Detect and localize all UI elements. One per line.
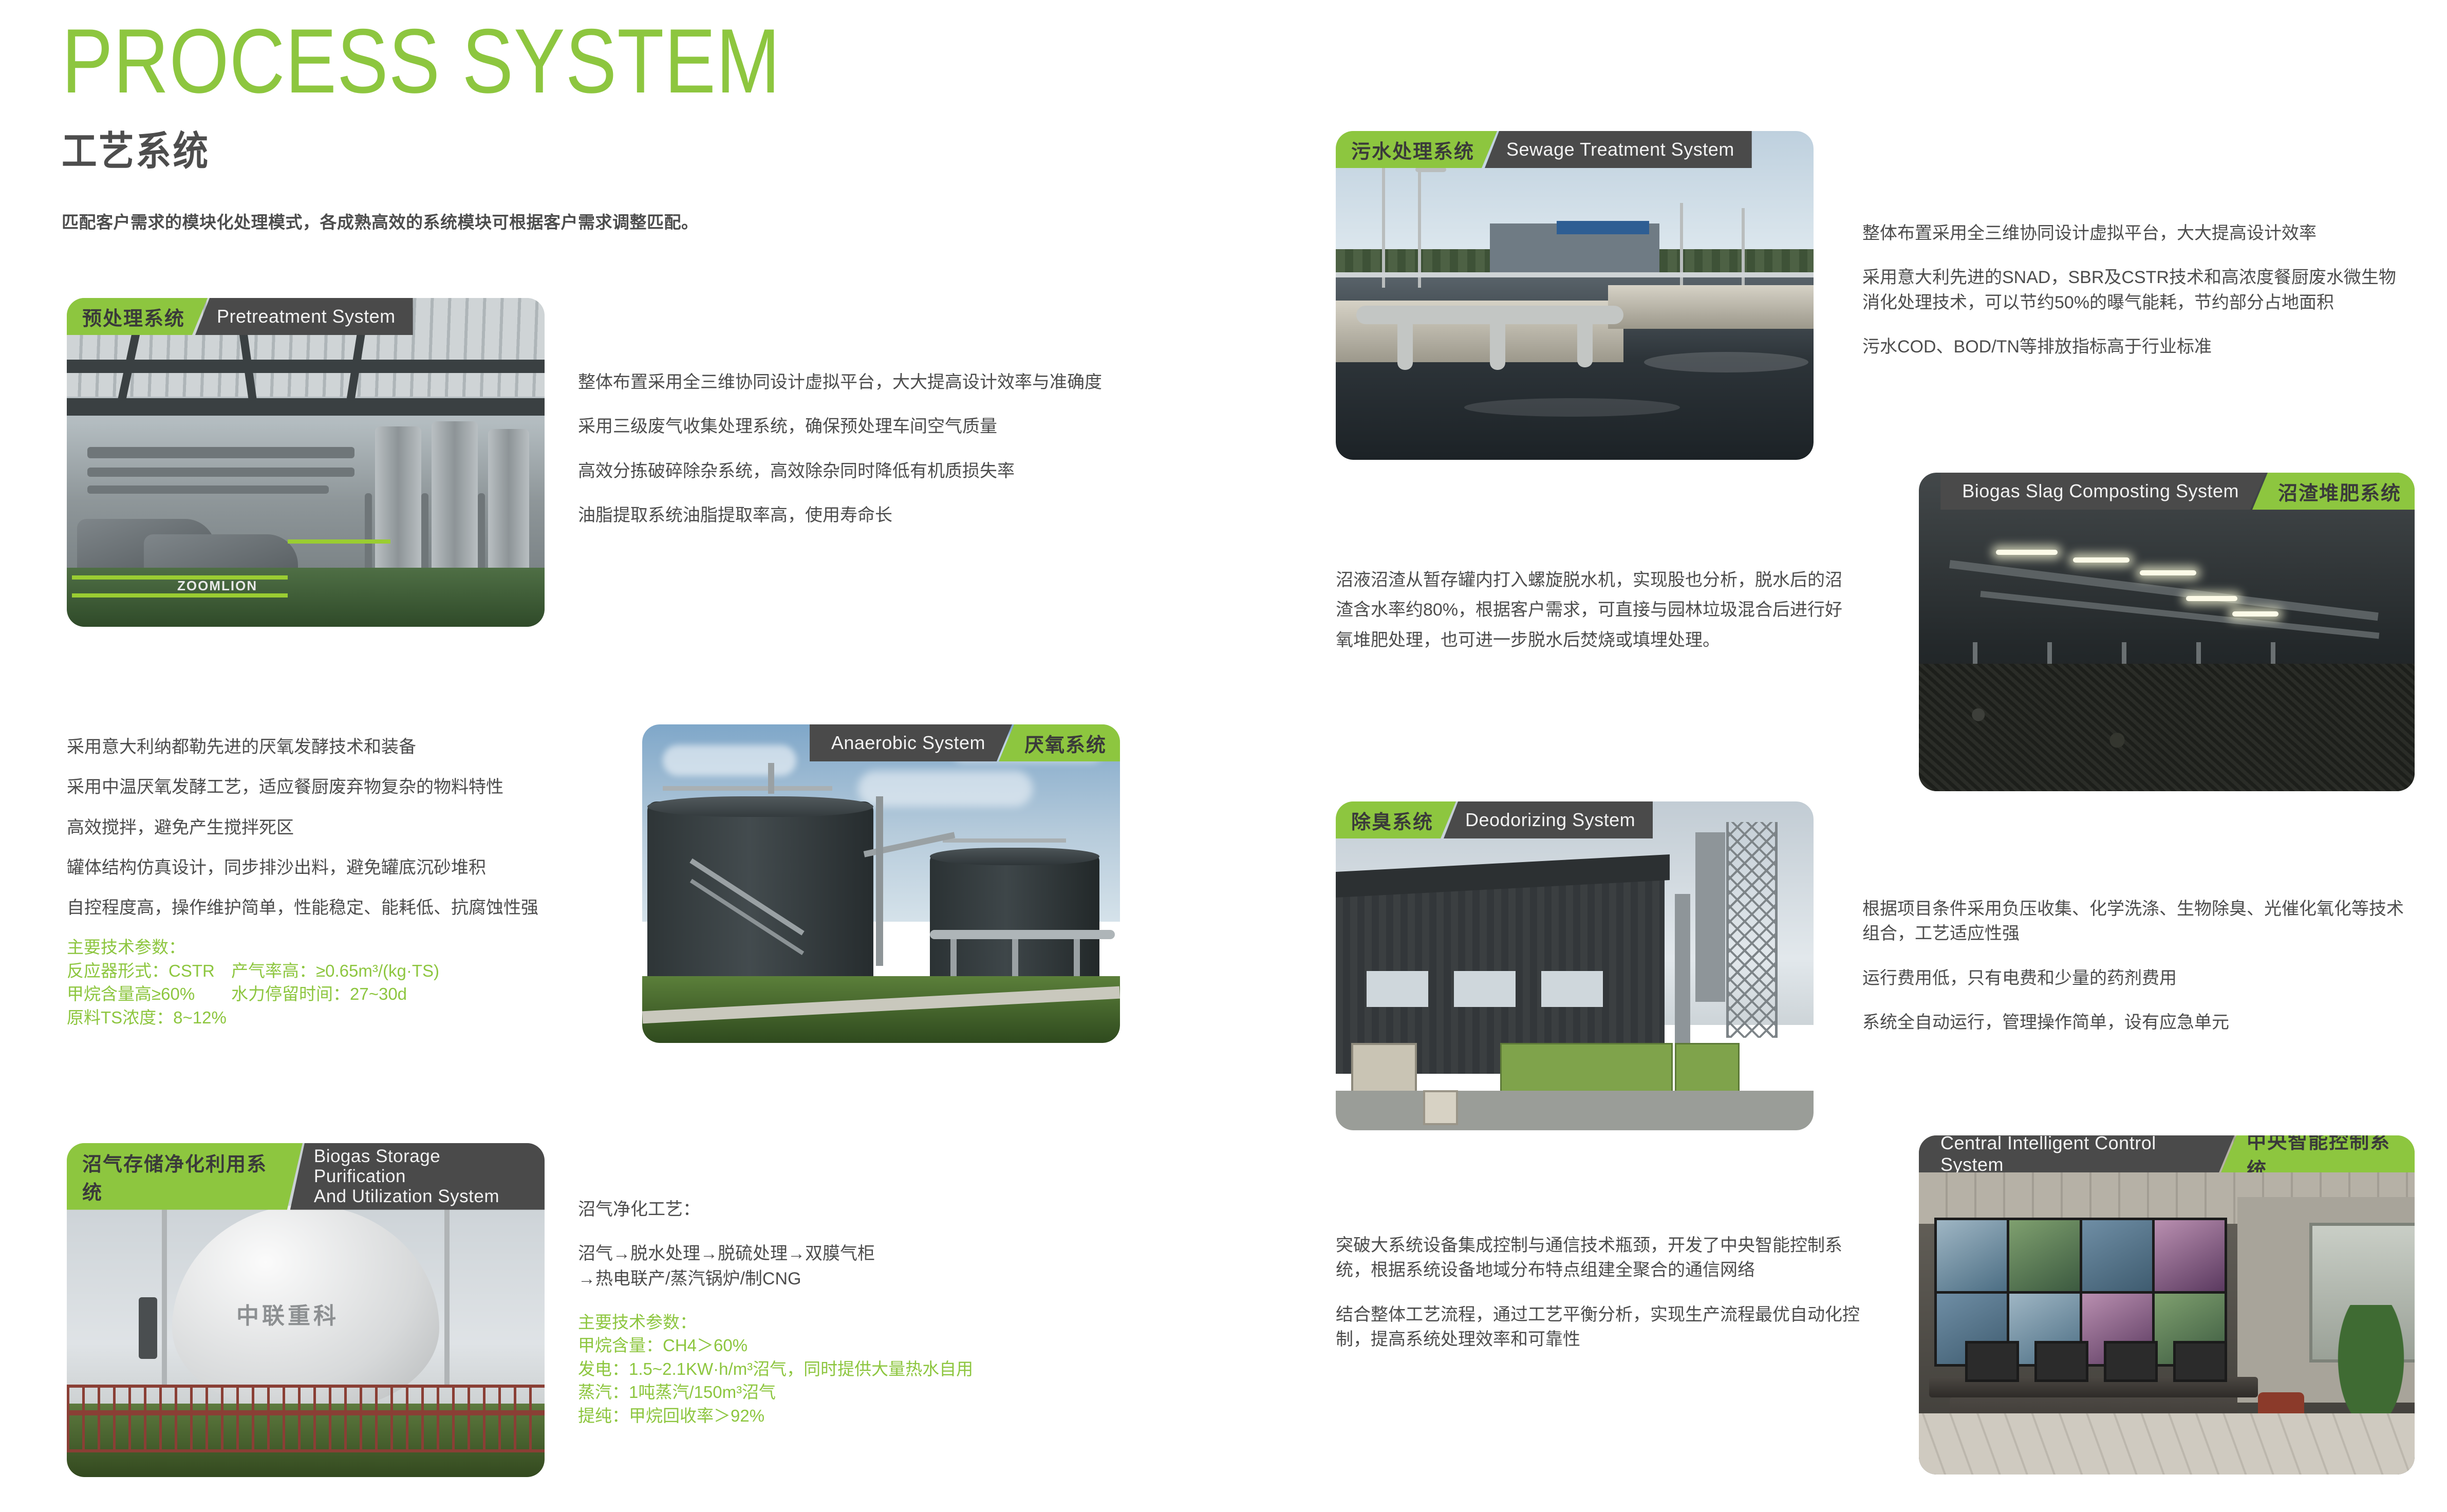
anaerobic-param-1-right: 水力停留时间：27~30d xyxy=(231,982,627,1006)
anaerobic-badge-en: Anaerobic System xyxy=(810,724,1012,761)
composting-badge-en: Biogas Slag Composting System xyxy=(1940,473,2266,510)
control-bullet-0: 突破大系统设备集成控制与通信技术瓶颈，开发了中央智能控制系统，根据系统设备地域分… xyxy=(1336,1233,1870,1283)
biogas-bullet-0: 沼气净化工艺： xyxy=(578,1197,1143,1222)
pretreatment-bullet-0: 整体布置采用全三维协同设计虚拟平台，大大提高设计效率与准确度 xyxy=(578,370,1133,395)
brochure-page: PROCESS SYSTEM 工艺系统 匹配客户需求的模块化处理模式，各成熟高效… xyxy=(0,0,2447,1512)
pretreatment-bullet-3: 油脂提取系统油脂提取率高，使用寿命长 xyxy=(578,503,1133,528)
page-header: PROCESS SYSTEM 工艺系统 匹配客户需求的模块化处理模式，各成熟高效… xyxy=(62,15,1141,233)
biogas-params-title: 主要技术参数： xyxy=(578,1311,1143,1334)
page-title-en: PROCESS SYSTEM xyxy=(62,15,968,107)
anaerobic-param-2-left: 原料TS浓度：8~12% xyxy=(67,1006,231,1030)
biogas-params: 主要技术参数： 甲烷含量：CH4＞60% 发电：1.5~2.1KW·h/m³沼气… xyxy=(578,1311,1143,1428)
biogas-badge-en-line1: Biogas Storage Purification xyxy=(314,1146,529,1186)
pretreatment-badge-en: Pretreatment System xyxy=(195,298,413,335)
anaerobic-bullet-3: 罐体结构仿真设计，同步排沙出料，避免罐底沉砂堆积 xyxy=(67,855,627,880)
deodorizing-photo-card: 除臭系统 Deodorizing System xyxy=(1336,801,1814,1130)
biogas-badge: 沼气存储净化利用系统 Biogas Storage Purification A… xyxy=(67,1143,545,1210)
composting-bullet-0: 沼液沼渣从暂存罐内打入螺旋脱水机，实现股也分析，脱水后的沼渣含水率约80%，根据… xyxy=(1336,565,1855,655)
control-photo-card: Central Intelligent Control System 中央智能控… xyxy=(1919,1135,2415,1474)
biogas-bullet-1: 沼气→脱水处理→脱硫处理→双膜气柜 xyxy=(578,1241,1143,1266)
sewage-badge-cn: 污水处理系统 xyxy=(1336,131,1497,168)
deodorizing-bullet-1: 运行费用低，只有电费和少量的药剂费用 xyxy=(1862,966,2407,991)
pretreatment-photo-card: ZOOMLION 预处理系统 Pretreatment System xyxy=(67,298,545,627)
page-title-cn: 工艺系统 xyxy=(62,119,1011,177)
deodorizing-photo xyxy=(1336,801,1814,1130)
biogas-param-0: 甲烷含量：CH4＞60% xyxy=(578,1334,1143,1357)
biogas-param-1: 发电：1.5~2.1KW·h/m³沼气，同时提供大量热水自用 xyxy=(578,1357,1143,1381)
anaerobic-bullet-2: 高效搅拌，避免产生搅拌死区 xyxy=(67,815,627,840)
biogas-param-2: 蒸汽：1吨蒸汽/150m³沼气 xyxy=(578,1380,1143,1404)
deodorizing-badge: 除臭系统 Deodorizing System xyxy=(1336,801,1653,838)
biogas-bullet-2: →热电联产/蒸汽锅炉/制CNG xyxy=(578,1266,1143,1291)
deodorizing-badge-cn: 除臭系统 xyxy=(1336,801,1456,838)
anaerobic-param-2-right xyxy=(231,1006,627,1030)
sewage-bullet-1: 采用意大利先进的SNAD，SBR及CSTR技术和高浓度餐厨废水微生物消化处理技术… xyxy=(1862,265,2407,315)
biogas-badge-cn: 沼气存储净化利用系统 xyxy=(67,1143,303,1210)
deodorizing-text: 根据项目条件采用负压收集、化学洗涤、生物除臭、光催化氧化等技术组合，工艺适应性强… xyxy=(1862,897,2407,1035)
anaerobic-photo-card: Anaerobic System 厌氧系统 xyxy=(642,724,1120,1043)
anaerobic-bullet-1: 采用中温厌氧发酵工艺，适应餐厨废弃物复杂的物料特性 xyxy=(67,775,627,799)
composting-photo xyxy=(1919,473,2415,791)
anaerobic-bullet-0: 采用意大利纳都勒先进的厌氧发酵技术和装备 xyxy=(67,735,627,759)
pretreatment-bullet-2: 高效分拣破碎除杂系统，高效除杂同时降低有机质损失率 xyxy=(578,459,1133,483)
biogas-badge-en-line2: And Utilization System xyxy=(314,1186,499,1206)
sewage-photo-card: 污水处理系统 Sewage Treatment System xyxy=(1336,131,1814,460)
control-text: 突破大系统设备集成控制与通信技术瓶颈，开发了中央智能控制系统，根据系统设备地域分… xyxy=(1336,1233,1870,1352)
control-badge-cn: 中央智能控制系统 xyxy=(2221,1135,2415,1172)
anaerobic-param-0-left: 反应器形式：CSTR xyxy=(67,959,231,983)
composting-text: 沼液沼渣从暂存罐内打入螺旋脱水机，实现股也分析，脱水后的沼渣含水率约80%，根据… xyxy=(1336,565,1855,655)
pretreatment-bullet-1: 采用三级废气收集处理系统，确保预处理车间空气质量 xyxy=(578,414,1133,439)
biogas-dome-label: 中联重科 xyxy=(236,1297,339,1330)
sewage-bullet-2: 污水COD、BOD/TN等排放指标高于行业标准 xyxy=(1862,334,2407,359)
control-bullet-1: 结合整体工艺流程，通过工艺平衡分析，实现生产流程最优自动化控制，提高系统处理效率… xyxy=(1336,1302,1870,1352)
page-intro: 匹配客户需求的模块化处理模式，各成熟高效的系统模块可根据客户需求调整匹配。 xyxy=(62,209,1141,233)
pretreatment-machine-label: ZOOMLION xyxy=(177,578,257,594)
deodorizing-bullet-0: 根据项目条件采用负压收集、化学洗涤、生物除臭、光催化氧化等技术组合，工艺适应性强 xyxy=(1862,897,2407,946)
pretreatment-photo: ZOOMLION xyxy=(67,298,545,627)
anaerobic-params: 主要技术参数： 反应器形式：CSTR 产气率高：≥0.65m³/(kg·TS) … xyxy=(67,936,627,1029)
deodorizing-badge-en: Deodorizing System xyxy=(1444,801,1653,838)
control-photo xyxy=(1919,1135,2415,1474)
anaerobic-bullet-4: 自控程度高，操作维护简单，性能稳定、能耗低、抗腐蚀性强 xyxy=(67,895,627,920)
control-badge: Central Intelligent Control System 中央智能控… xyxy=(1919,1135,2415,1172)
pretreatment-badge: 预处理系统 Pretreatment System xyxy=(67,298,413,335)
biogas-badge-en: Biogas Storage Purification And Utilizat… xyxy=(290,1143,545,1210)
biogas-text: 沼气净化工艺： 沼气→脱水处理→脱硫处理→双膜气柜 →热电联产/蒸汽锅炉/制CN… xyxy=(578,1197,1143,1427)
anaerobic-params-title: 主要技术参数： xyxy=(67,936,627,959)
pretreatment-text: 整体布置采用全三维协同设计虚拟平台，大大提高设计效率与准确度 采用三级废气收集处… xyxy=(578,370,1133,528)
sewage-bullet-0: 整体布置采用全三维协同设计虚拟平台，大大提高设计效率 xyxy=(1862,221,2407,246)
control-badge-en: Central Intelligent Control System xyxy=(1919,1135,2234,1172)
anaerobic-badge-cn: 厌氧系统 xyxy=(999,724,1120,761)
anaerobic-text: 采用意大利纳都勒先进的厌氧发酵技术和装备 采用中温厌氧发酵工艺，适应餐厨废弃物复… xyxy=(67,735,627,1029)
composting-badge-cn: 沼渣堆肥系统 xyxy=(2252,473,2415,510)
sewage-text: 整体布置采用全三维协同设计虚拟平台，大大提高设计效率 采用意大利先进的SNAD，… xyxy=(1862,221,2407,359)
composting-badge: Biogas Slag Composting System 沼渣堆肥系统 xyxy=(1940,473,2415,510)
sewage-photo xyxy=(1336,131,1814,460)
deodorizing-bullet-2: 系统全自动运行，管理操作简单，设有应急单元 xyxy=(1862,1010,2407,1035)
anaerobic-param-1-left: 甲烷含量高≥60% xyxy=(67,982,231,1006)
biogas-param-3: 提纯：甲烷回收率＞92% xyxy=(578,1404,1143,1428)
pretreatment-badge-cn: 预处理系统 xyxy=(67,298,208,335)
sewage-badge: 污水处理系统 Sewage Treatment System xyxy=(1336,131,1752,168)
anaerobic-badge: Anaerobic System 厌氧系统 xyxy=(810,724,1120,761)
sewage-badge-en: Sewage Treatment System xyxy=(1485,131,1752,168)
anaerobic-photo xyxy=(642,724,1120,1043)
anaerobic-param-0-right: 产气率高：≥0.65m³/(kg·TS) xyxy=(231,959,627,983)
biogas-photo-card: 中联重科 沼气存储净化利用系统 Biogas Storage Purificat… xyxy=(67,1143,545,1477)
composting-photo-card: Biogas Slag Composting System 沼渣堆肥系统 xyxy=(1919,473,2415,791)
